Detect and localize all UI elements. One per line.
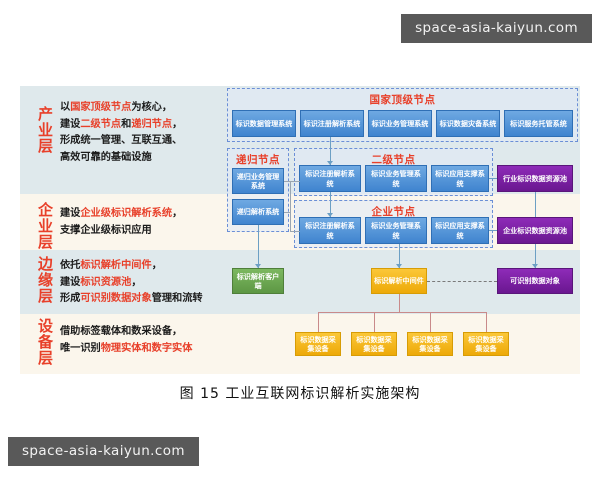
node-data-collection-device-4[interactable]: 标识数据采集设备 [463,332,509,356]
connector-recursive-to-enterprise [290,231,300,232]
watermark-bottom: space-asia-kaiyun.com [8,437,199,466]
desc-line: 唯一识别物理实体和数字实体 [60,341,240,358]
arrow-recursive-to-client [255,264,261,268]
connector-middleware-down [399,294,400,312]
node-industry-data-pool[interactable]: 行业标识数据资源池 [497,165,573,192]
desc-line: 高效可靠的基础设施 [60,150,240,167]
arrow-enterprise-to-middleware [396,264,402,268]
desc-line: 依托标识解析中间件， [60,258,240,275]
connector-device-bus [318,312,486,313]
node-national-1[interactable]: 标识数据管理系统 [232,110,296,137]
node-secondary-2[interactable]: 标识业务管理系统 [365,165,427,192]
node-resolution-middleware[interactable]: 标识解析中间件 [371,268,427,294]
layer-label-industry: 产业层 [26,106,52,154]
node-resolution-client[interactable]: 标识解析客户端 [232,268,284,294]
connector-recursive-bottom [284,212,291,213]
desc-line: 建设企业级标识解析系统， [60,206,240,223]
desc-line: 形成统一管理、互联互通、 [60,133,240,150]
layer-description-edge: 依托标识解析中间件， 建设标识资源池， 形成可识别数据对象管理和流转 [60,258,240,308]
connector-middleware-to-data-object [427,281,497,282]
arrow-pool-to-data-object [532,264,538,268]
node-secondary-3[interactable]: 标识应用支撑系统 [431,165,489,192]
node-recursive-2[interactable]: 递归解析系统 [232,199,284,225]
node-identifiable-data-object[interactable]: 可识别数据对象 [497,268,573,294]
node-national-3[interactable]: 标识业务管理系统 [368,110,432,137]
desc-line: 形成可识别数据对象管理和流转 [60,291,240,308]
node-secondary-1[interactable]: 标识注册解析系统 [299,165,361,192]
connector-industry-pool-to-enterprise-pool [535,192,536,217]
layer-label-enterprise: 企业层 [26,202,52,250]
architecture-diagram: 产业层 企业层 边缘层 设备层 以国家顶级节点为核心， 建设二级节点和递归节点，… [20,86,580,374]
node-data-collection-device-2[interactable]: 标识数据采集设备 [351,332,397,356]
node-data-collection-device-3[interactable]: 标识数据采集设备 [407,332,453,356]
node-national-5[interactable]: 标识服务托管系统 [504,110,573,137]
group-title-national: 国家顶级节点 [228,92,577,107]
node-enterprise-1[interactable]: 标识注册解析系统 [299,217,361,244]
connector-recursive-to-secondary [290,181,300,182]
connector-device-4 [486,312,487,332]
connector-enterprise-to-enterprise-pool [489,230,497,231]
layer-description-industry: 以国家顶级节点为核心， 建设二级节点和递归节点， 形成统一管理、互联互通、 高效… [60,100,240,166]
node-national-2[interactable]: 标识注册解析系统 [300,110,364,137]
desc-line: 建设二级节点和递归节点， [60,117,240,134]
desc-line: 借助标签载体和数采设备， [60,324,240,341]
desc-line: 建设标识资源池， [60,275,240,292]
connector-recursive-bus [290,181,291,231]
connector-device-3 [430,312,431,332]
node-enterprise-3[interactable]: 标识应用支撑系统 [431,217,489,244]
desc-line: 支撑企业级标识应用 [60,223,240,240]
node-recursive-1[interactable]: 递归业务管理系统 [232,168,284,194]
node-enterprise-2[interactable]: 标识业务管理系统 [365,217,427,244]
layer-label-device: 设备层 [26,318,52,366]
desc-line: 以国家顶级节点为核心， [60,100,240,117]
node-data-collection-device-1[interactable]: 标识数据采集设备 [295,332,341,356]
arrow-secondary-to-enterprise [327,213,333,217]
connector-device-2 [374,312,375,332]
connector-recursive-to-client [258,225,259,268]
connector-secondary-to-industry-pool [489,178,497,179]
layer-description-device: 借助标签载体和数采设备， 唯一识别物理实体和数字实体 [60,324,240,357]
watermark-top: space-asia-kaiyun.com [401,14,592,43]
node-enterprise-data-pool[interactable]: 企业标识数据资源池 [497,217,573,244]
group-title-recursive: 递归节点 [228,152,288,167]
figure-caption: 图 15 工业互联网标识解析实施架构 [0,383,600,403]
layer-label-edge: 边缘层 [26,256,52,304]
connector-device-1 [318,312,319,332]
node-national-4[interactable]: 标识数据灾备系统 [436,110,500,137]
layer-description-enterprise: 建设企业级标识解析系统， 支撑企业级标识应用 [60,206,240,239]
arrow-national-to-secondary [327,161,333,165]
